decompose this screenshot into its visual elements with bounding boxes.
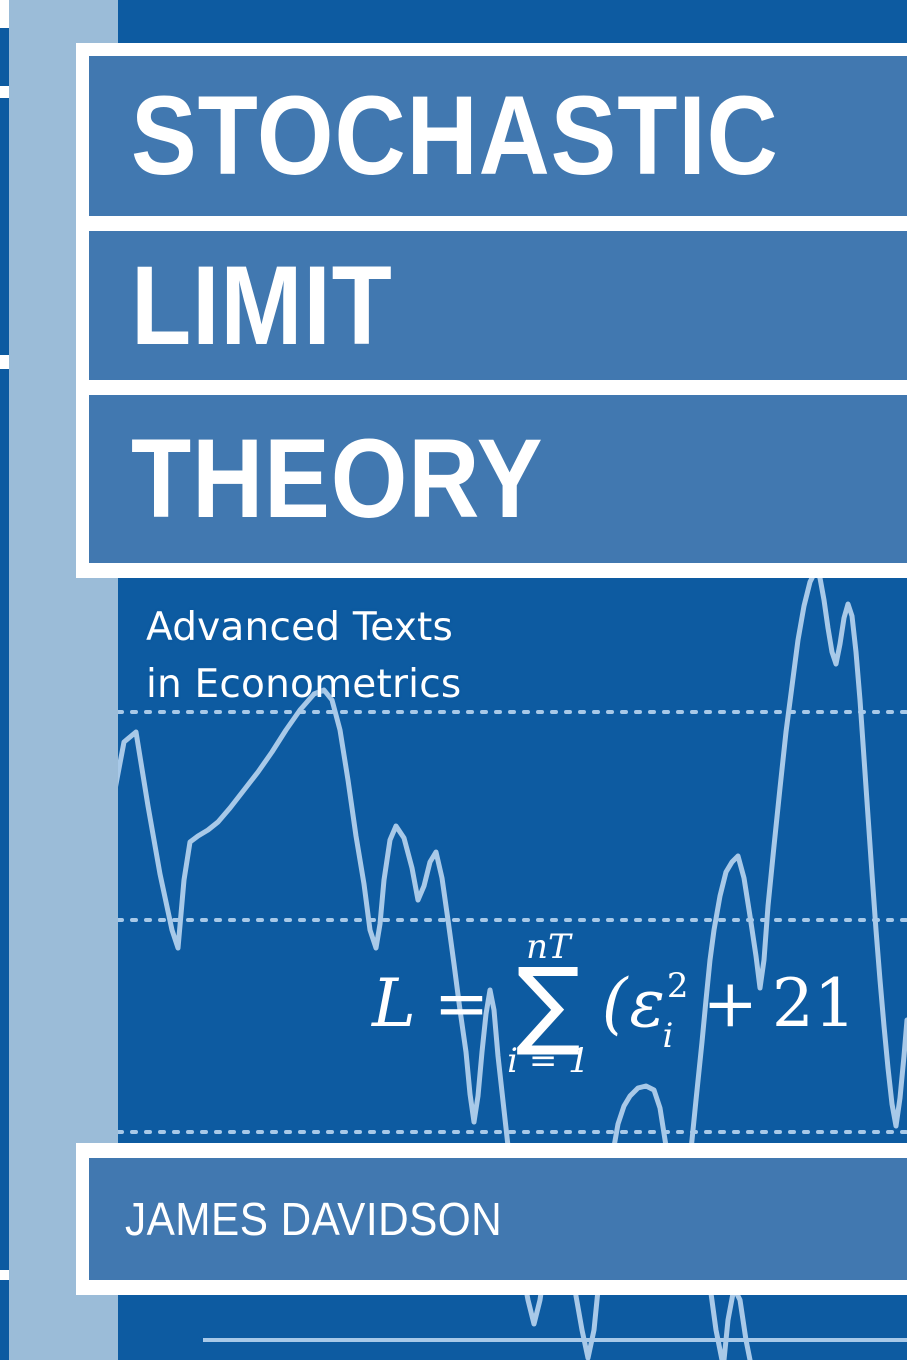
title-bar-line-3: THEORY [89, 395, 907, 563]
book-cover: STOCHASTIC LIMIT THEORY Advanced Texts i… [0, 0, 907, 1360]
title-bar-line-2: LIMIT [89, 231, 907, 380]
formula-epsilon: ε [630, 965, 665, 1042]
formula-plus: + [703, 971, 758, 1037]
formula-sum-lower: i = 1 [507, 1044, 590, 1078]
spine-notch [0, 1270, 9, 1280]
formula-epsilon-term: ε2 i [630, 971, 687, 1037]
formula-epsilon-index: i [663, 1019, 674, 1053]
formula-trailing: 21 [772, 971, 856, 1037]
cover-formula: L = nT ∑ i = 1 ( ε2 i + 21 [372, 930, 856, 1078]
formula-lhs: L [372, 971, 416, 1037]
frame-rail-author [76, 1143, 89, 1295]
formula-equals: = [434, 971, 489, 1037]
sigma-icon: ∑ [516, 960, 581, 1046]
spine-strip [0, 0, 9, 1360]
author-bar: JAMES DAVIDSON [89, 1158, 907, 1280]
spine-notch [0, 0, 9, 28]
spine-notch [0, 355, 9, 369]
title-line-1: STOCHASTIC [131, 80, 779, 192]
title-line-3: THEORY [131, 423, 543, 535]
frame-band-top [76, 43, 907, 56]
formula-open-paren: ( [602, 971, 628, 1037]
frame-band-gap-3 [76, 563, 907, 578]
formula-summation: nT ∑ i = 1 [507, 930, 590, 1078]
author-name: JAMES DAVIDSON [125, 1192, 502, 1246]
series-subtitle: Advanced Texts in Econometrics [146, 600, 461, 713]
frame-band-author-top [76, 1143, 907, 1158]
formula-epsilon-exponent: 2 [667, 966, 689, 1006]
frame-band-gap-1 [76, 216, 907, 231]
frame-band-gap-2 [76, 380, 907, 395]
frame-rail-title [76, 43, 89, 578]
title-bar-line-1: STOCHASTIC [89, 56, 907, 216]
spine-notch [0, 86, 9, 98]
title-line-2: LIMIT [131, 250, 393, 362]
chart-series-line-tail2 [724, 1288, 750, 1360]
frame-band-author-bottom [76, 1280, 907, 1295]
